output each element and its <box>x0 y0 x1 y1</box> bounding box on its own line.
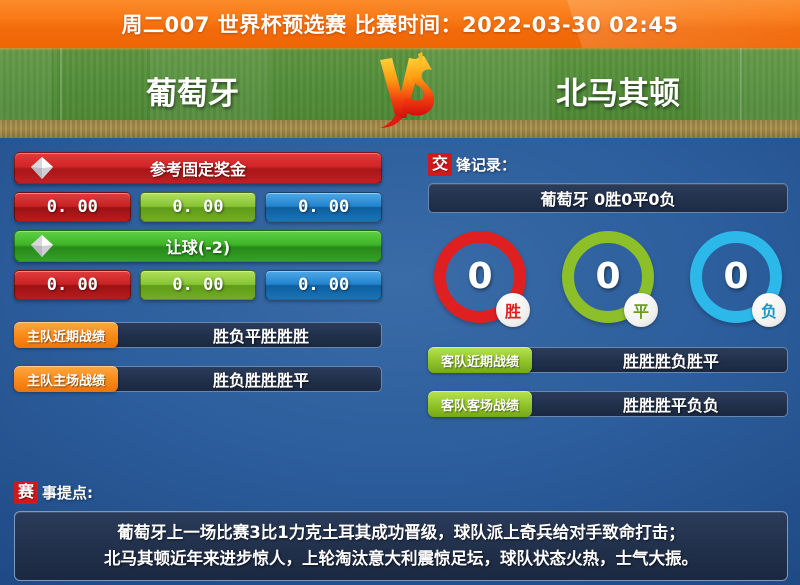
handicap-odds-row: 0. 00 0. 00 0. 00 <box>14 270 382 300</box>
diamond-icon <box>29 155 55 181</box>
fixed-prize-odds-home[interactable]: 0. 00 <box>14 192 131 222</box>
away-recent-form-results: 胜胜胜负胜平 <box>623 348 719 372</box>
ring-draws: 0 平 <box>562 231 654 323</box>
away-venue-form-bar: 胜胜胜平负负 <box>514 391 788 417</box>
head-to-head-tag-box: 交 <box>428 153 452 176</box>
fixed-prize-odds-row: 0. 00 0. 00 0. 00 <box>14 192 382 222</box>
handicap-header[interactable]: 让球(-2) <box>14 230 382 262</box>
home-venue-form-results: 胜负胜胜胜平 <box>213 367 309 391</box>
head-to-head-heading: 交 锋记录： <box>428 152 788 176</box>
away-recent-form-bar: 胜胜胜负胜平 <box>514 347 788 373</box>
head-to-head-panel: 交 锋记录： 葡萄牙 0胜0平0负 0 胜 0 平 0 负 <box>428 152 788 417</box>
away-team-name: 北马其顿 <box>556 68 680 113</box>
home-venue-form-row: 胜负胜胜胜平 主队主场战绩 <box>14 366 382 392</box>
ring-losses-value: 0 <box>723 259 748 295</box>
pitch-top-edge <box>0 48 800 51</box>
away-venue-form-row: 胜胜胜平负负 客队客场战绩 <box>428 391 788 417</box>
odds-panel: 参考固定奖金 0. 00 0. 00 0. 00 让球(-2) 0. 00 0.… <box>14 152 382 392</box>
head-to-head-rings: 0 胜 0 平 0 负 <box>428 231 788 323</box>
page-title: 周二007 世界杯预选赛 比赛时间：2022-03-30 02:45 <box>122 9 679 39</box>
ring-wins-badge: 胜 <box>496 293 530 327</box>
match-preview-card: 周二007 世界杯预选赛 比赛时间：2022-03-30 02:45 葡萄牙 北… <box>0 0 800 585</box>
diamond-icon <box>29 233 55 259</box>
away-recent-form-tag: 客队近期战绩 <box>428 347 532 373</box>
home-venue-form-bar: 胜负胜胜胜平 <box>100 366 382 392</box>
analysis-tag-text: 事提点: <box>42 482 93 503</box>
handicap-odds-away[interactable]: 0. 00 <box>265 270 382 300</box>
analysis-line-2: 北马其顿近年来进步惊人，上轮淘汰意大利震惊足坛，球队状态火热，士气大振。 <box>25 546 777 572</box>
fixed-prize-header[interactable]: 参考固定奖金 <box>14 152 382 184</box>
head-to-head-summary: 葡萄牙 0胜0平0负 <box>428 183 788 213</box>
header-bar: 周二007 世界杯预选赛 比赛时间：2022-03-30 02:45 <box>0 0 800 48</box>
home-venue-form-tag: 主队主场战绩 <box>14 366 118 392</box>
vs-flame-icon <box>372 52 440 130</box>
handicap-odds-home[interactable]: 0. 00 <box>14 270 131 300</box>
away-recent-form-row: 胜胜胜负胜平 客队近期战绩 <box>428 347 788 373</box>
analysis-heading: 赛 事提点: <box>14 480 788 504</box>
home-recent-form-tag: 主队近期战绩 <box>14 322 118 348</box>
analysis-text-box: 葡萄牙上一场比赛3比1力克土耳其成功晋级，球队派上奇兵给对手致命打击； 北马其顿… <box>14 511 788 581</box>
ring-losses: 0 负 <box>690 231 782 323</box>
analysis-line-1: 葡萄牙上一场比赛3比1力克土耳其成功晋级，球队派上奇兵给对手致命打击； <box>25 520 777 546</box>
head-to-head-tag-text: 锋记录： <box>456 154 516 175</box>
handicap-odds-draw[interactable]: 0. 00 <box>140 270 257 300</box>
handicap-title: 让球(-2) <box>166 234 230 258</box>
ring-losses-badge: 负 <box>752 293 786 327</box>
analysis-panel: 赛 事提点: 葡萄牙上一场比赛3比1力克土耳其成功晋级，球队派上奇兵给对手致命打… <box>14 480 788 581</box>
home-recent-form-results: 胜负平胜胜胜 <box>213 323 309 347</box>
fixed-prize-title: 参考固定奖金 <box>150 156 246 180</box>
fixed-prize-odds-away[interactable]: 0. 00 <box>265 192 382 222</box>
ring-wins-value: 0 <box>467 259 492 295</box>
away-venue-form-results: 胜胜胜平负负 <box>623 392 719 416</box>
ring-draws-value: 0 <box>595 259 620 295</box>
analysis-tag-box: 赛 <box>14 481 38 504</box>
home-recent-form-row: 胜负平胜胜胜 主队近期战绩 <box>14 322 382 348</box>
ring-wins: 0 胜 <box>434 231 526 323</box>
home-recent-form-bar: 胜负平胜胜胜 <box>100 322 382 348</box>
home-team-name: 葡萄牙 <box>146 68 239 113</box>
fixed-prize-odds-draw[interactable]: 0. 00 <box>140 192 257 222</box>
ring-draws-badge: 平 <box>624 293 658 327</box>
away-venue-form-tag: 客队客场战绩 <box>428 391 532 417</box>
